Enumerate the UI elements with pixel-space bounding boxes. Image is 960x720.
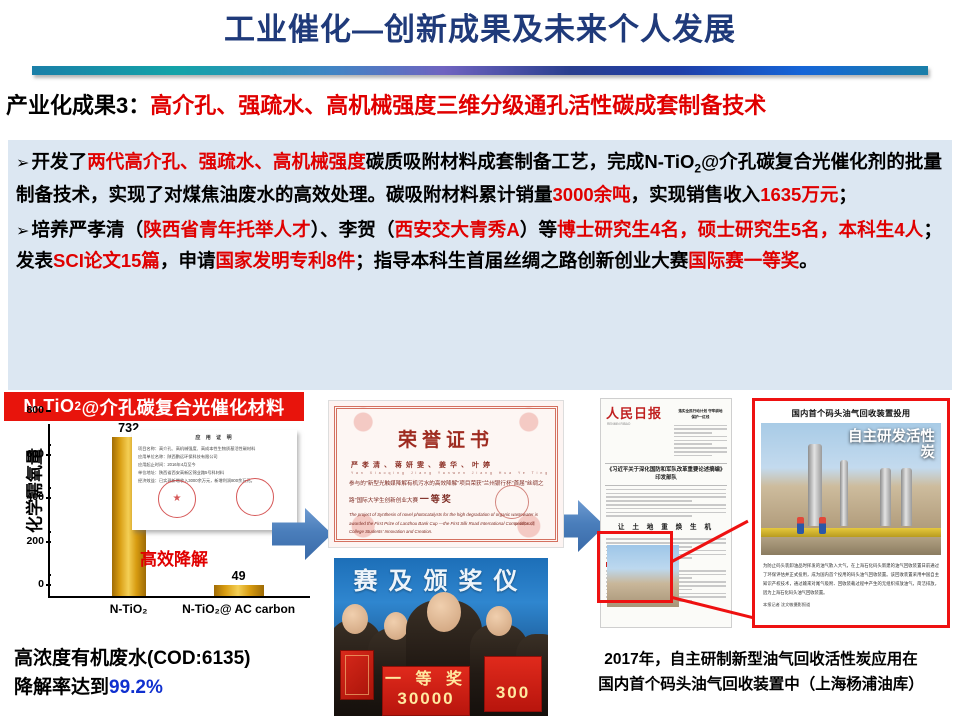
chart-y-tick: 200 [26,535,50,547]
caption-left: 高浓度有机废水(COD:6135) 降解率达到99.2% [14,644,250,703]
person-head-center [427,592,461,632]
red-certificate-folder [340,650,374,700]
bullet-icon-2: ➢ [16,223,31,240]
newspaper-masthead-pinyin: RENMIN RIBAO [601,422,674,426]
p2-seg-c: ）等 [520,219,557,240]
newspaper-column [674,425,727,457]
chart-bar: 49 [214,585,264,596]
clipping-photo: 自主研发活性 炭 [761,423,941,555]
p2-seg-f: ；指导本科生首届丝绸之路创新创业大赛 [355,250,688,271]
caption-left-value: 99.2% [109,677,163,698]
prize-label: 一 等 奖 [383,667,469,689]
p2-seg-e: ，申请 [160,250,216,271]
dock-deck [761,537,941,555]
equipment-tower [880,468,891,526]
page-title: 工业催化—创新成果及未来个人发展 [0,0,960,48]
caption-right-line-2: 国内首个码头油气回收装置中（上海杨浦油库） [566,673,956,698]
p2-highlight-1: 陕西省青年托举人才 [143,219,311,240]
certificate-heading: 荣誉证书 [337,425,555,452]
chart-y-tick: 0 [38,578,50,590]
newspaper-masthead: 人民日报 [601,399,674,422]
p2-highlight-3: 博士研究生4名，硕士研究生5名，本科生4人 [557,219,923,240]
p2-seg-b: ）、李贺（ [311,219,395,240]
chart-bar-label: 49 [232,569,246,583]
prize-amount: 30000 [383,689,469,709]
caption-right: 2017年，自主研制新型油气回收活性炭应用在 国内首个码头油气回收装置中（上海杨… [566,648,956,698]
chart-banner-subscript: 2 [75,400,82,413]
bullet-icon: ➢ [16,155,31,172]
appcert-line: 单位地址：陕西省西安高新区锦业路5号科材料 [138,469,291,477]
certificate-border: 荣誉证书 严孝清、蒋妍雯、姜华、叶婷 Yan Xiaoqing Jiang Ya… [334,406,558,542]
clipping-body-text: 为防止码头装卸油品时挥发的油气散入大气，在上海石化码头新建的油气回收装置日前通过… [763,561,939,597]
p2-highlight-2: 西安交大青秀A [395,219,520,240]
chart-y-tick: 800 [26,404,50,416]
newspaper-headline-right: 落实全民行动计划 守牢耕地保护一红线 [678,407,723,423]
caption-left-line-2: 降解率达到99.2% [14,673,250,702]
worker-figure [797,517,804,534]
dock-railing [761,528,941,537]
person-head [486,606,512,636]
prize-cheque-side: 300 [484,656,542,712]
certificate-seal-icon [495,485,529,519]
clipping-byline: 本报记者 沈文敏摄影报道 [763,602,939,608]
honour-certificate-image: 荣誉证书 严孝清、蒋妍雯、姜华、叶婷 Yan Xiaoqing Jiang Ya… [328,400,564,548]
caption-left-line-1: 高浓度有机废水(COD:6135) [14,644,250,673]
caption-left-line-2-text: 降解率达到 [14,677,109,698]
p2-seg-g: 。 [799,250,818,271]
appcert-line: 项目名称：高介孔、高机械强度、高成本性生物质基活性碳材料 [138,445,291,453]
newspaper-headline-left: 《习近平关于深化国防和军队改革重要论述摘编》印发部队 [605,463,727,486]
p1-seg-b: 碳质吸附材料成套制备工艺，完成N-TiO [366,151,695,172]
subtitle-lead: 产业化成果3： [6,88,150,120]
prize-cheque-main: 一 等 奖 30000 [382,666,470,716]
newspaper-callout-box [597,531,673,603]
chart-annotation: 高效降解 [140,545,208,570]
p2-seg-a: 培养严孝清（ [31,219,143,240]
person-head [342,604,368,634]
subtitle-highlight: 高介孔、强疏水、高机械强度三维分级通孔活性碳成套制备技术 [150,88,766,120]
certificate-prize: 一等奖 [420,494,453,504]
paragraph-2: ➢培养严孝清（陕西省青年托举人才）、李贺（西安交大青秀A）等博士研究生4名，硕士… [16,214,942,277]
equipment-tower [840,460,848,526]
p1-seg-a: 开发了 [31,151,87,172]
chart-y-tick: 600 [26,448,50,460]
paragraph-1: ➢开发了两代高介孔、强疏水、高机械强度碳质吸附材料成套制备工艺，完成N-TiO2… [16,146,942,211]
clipping-headline: 国内首个码头油气回收装置投用 [759,407,943,419]
newspaper-column [606,489,726,517]
p2-highlight-5: 国家发明专利8件 [215,250,355,271]
person-head [384,612,408,640]
caption-right-line-1: 2017年，自主研制新型油气回收活性炭应用在 [566,648,956,673]
clipping-overlay-line-1: 自主研发活性 [848,429,935,445]
chart-y-tick: 400 [26,491,50,503]
equipment-tower [808,444,822,526]
certificate-date: 2018年12月 [514,521,535,527]
seal-star-icon: ★ [173,493,182,505]
body-text-panel: ➢开发了两代高介孔、强疏水、高机械强度碳质吸附材料成套制备工艺，完成N-TiO2… [8,140,952,390]
appcert-title: 应 用 证 明 [138,434,291,441]
appcert-line: 应用起止时间：2016年4月至今 [138,461,291,469]
p1-seg-d: ，实现销售收入 [631,184,761,205]
chart-banner-suffix: @介孔碳复合光催化材料 [82,394,285,420]
ceremony-backdrop-text: 赛及颁奖仪 [334,561,548,596]
prize-side-amount: 300 [485,657,541,703]
newspaper-clipping-enlarged: 国内首个码头油气回收装置投用 自主研发活性 炭 为防止码头装卸油品时挥发的油气散… [752,398,950,628]
chart-x-tick: N-TiO₂@ AC carbon [182,602,295,616]
certificate-names-en: Yan Xiaoqing Jiang Yanwen Jiang Hua Ye T… [351,471,555,475]
official-seal-right-icon [236,478,274,516]
application-certificate-image: 应 用 证 明 项目名称：高介孔、高机械强度、高成本性生物质基活性碳材料 应用单… [132,430,297,530]
equipment-tower [901,468,912,526]
p2-highlight-4: SCI论文15篇 [53,250,160,271]
appcert-line: 应用单位名称：陕西鹏远环保科技有限公司 [138,453,291,461]
p1-highlight-1: 两代高介孔、强疏水、高机械强度 [87,151,366,172]
subtitle: 产业化成果3： 高介孔、强疏水、高机械强度三维分级通孔活性碳成套制备技术 [6,88,954,120]
p1-highlight-2: 3000余吨 [553,184,631,205]
official-seal-left-icon: ★ [158,480,196,518]
clipping-overlay-text: 自主研发活性 炭 [848,429,935,461]
clipping-overlay-line-2: 炭 [848,445,935,461]
p2-highlight-6: 国际赛一等奖 [688,250,799,271]
award-ceremony-photo: 赛及颁奖仪 一 等 奖 30000 300 [334,558,548,716]
worker-figure [819,517,826,534]
p1-highlight-3: 1635万元 [760,184,838,205]
p1-seg-e: ； [838,184,857,205]
chart-x-tick: N-TiO₂ [110,602,148,616]
title-divider [32,66,928,75]
certificate-names: 严孝清、蒋妍雯、姜华、叶婷 [351,460,555,470]
